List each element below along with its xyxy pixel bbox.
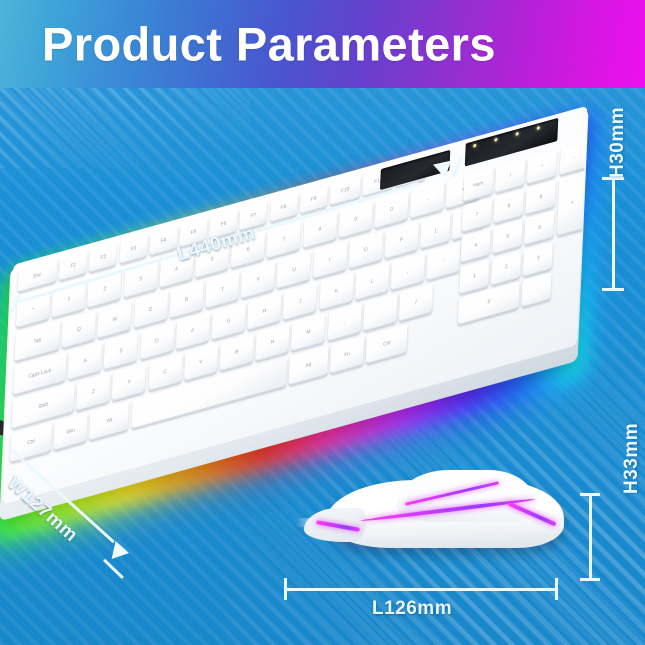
keyboard-key-y[interactable]: Y	[241, 261, 275, 299]
infographic-canvas: Product Parameters EscF1F2F3F4F5F6F7F8F9…	[0, 0, 645, 645]
dimension-label-mouse-length: L126mm	[372, 598, 452, 620]
keyboard-key-win[interactable]: Win	[54, 412, 88, 450]
dimension-line-mouse-height	[589, 494, 592, 580]
keyboard-numpad-key--[interactable]: -	[559, 140, 587, 175]
keyboard-key-h[interactable]: H	[247, 292, 281, 330]
keyboard-key-c[interactable]: C	[148, 353, 182, 391]
keyboard-numpad-key-num[interactable]: Num	[463, 167, 493, 202]
keyboard-key-t[interactable]: T	[205, 271, 239, 309]
dimension-tick-keyboard-height-bottom	[602, 288, 624, 291]
keyboard-key-i[interactable]: I	[313, 241, 347, 279]
keyboard-key--[interactable]: /	[399, 283, 433, 321]
keyboard-key-o[interactable]: O	[349, 231, 383, 269]
keyboard-key-r[interactable]: R	[169, 281, 203, 319]
keyboard-numpad-key-2[interactable]: 2	[491, 250, 521, 285]
dimension-tick-mouse-length-right	[555, 578, 558, 600]
keyboard-key-v[interactable]: V	[184, 343, 218, 381]
keyboard-key--[interactable]: .	[363, 293, 397, 331]
dimension-line-mouse-length	[285, 588, 557, 591]
keyboard-key-esc[interactable]: Esc	[18, 259, 58, 293]
keyboard-key-z[interactable]: Z	[76, 373, 110, 411]
mouse-product-image	[300, 462, 580, 572]
keyboard-key-e[interactable]: E	[134, 290, 168, 328]
keyboard-key-0[interactable]: 0	[374, 190, 408, 228]
keyboard-key-k[interactable]: K	[319, 272, 353, 310]
dimension-tick-mouse-length-left	[284, 578, 287, 600]
keyboard-key-w[interactable]: W	[98, 300, 132, 338]
keyboard-key--[interactable]: ;	[391, 252, 425, 290]
keyboard-key-a[interactable]: A	[68, 342, 102, 380]
keyboard-numpad-key-5[interactable]: 5	[493, 219, 523, 254]
keyboard-key-alt[interactable]: Alt	[288, 346, 328, 386]
keyboard-key-f2[interactable]: F2	[89, 242, 117, 273]
keyboard-key-d[interactable]: D	[140, 322, 174, 360]
keyboard-numpad-key--[interactable]: /	[495, 158, 525, 193]
keyboard-key-m[interactable]: M	[291, 313, 325, 351]
keyboard-key-fn[interactable]: Fn	[330, 336, 364, 374]
keyboard-key-f[interactable]: F	[176, 312, 210, 350]
keyboard-numpad-key-9[interactable]: 9	[526, 180, 556, 215]
keyboard-key-alt[interactable]: Alt	[90, 401, 130, 441]
dimension-label-keyboard-height: H30mm	[607, 107, 629, 178]
keyboard-key-f1[interactable]: F1	[59, 251, 87, 282]
header-banner: Product Parameters	[0, 0, 645, 88]
keyboard-key-n[interactable]: N	[256, 323, 290, 361]
keyboard-key-j[interactable]: J	[283, 282, 317, 320]
dimension-line-keyboard-height	[612, 178, 615, 290]
dimension-tick-mouse-height-bottom	[580, 578, 600, 581]
keyboard-numpad-key--[interactable]: *	[527, 149, 557, 184]
keyboard-key-b[interactable]: B	[220, 333, 254, 371]
keyboard-key-g[interactable]: G	[212, 302, 246, 340]
dimension-tick-mouse-height-top	[580, 493, 600, 496]
keyboard-numpad-key--[interactable]: .	[522, 272, 552, 307]
keyboard-key--[interactable]: [	[420, 212, 450, 249]
keyboard-key-p[interactable]: P	[385, 221, 419, 259]
keyboard-numpad-key-3[interactable]: 3	[523, 241, 553, 276]
keyboard-key-f3[interactable]: F3	[119, 234, 147, 265]
keyboard-key-u[interactable]: U	[277, 251, 311, 289]
keyboard-assembly: EscF1F2F3F4F5F6F7F8F9F10F11F12~123456789…	[0, 155, 640, 505]
keyboard-key-ctrl[interactable]: Ctrl	[366, 324, 408, 365]
keyboard-key--[interactable]: -	[410, 181, 444, 219]
page-title: Product Parameters	[42, 21, 496, 68]
keyboard-numpad-key-6[interactable]: 6	[525, 211, 555, 246]
keyboard-key-x[interactable]: X	[112, 363, 146, 401]
keyboard-key--[interactable]: ,	[327, 303, 361, 341]
keyboard-key--[interactable]: '	[427, 242, 461, 280]
keyboard-key-q[interactable]: Q	[62, 310, 96, 348]
dimension-label-mouse-height: H33mm	[621, 423, 643, 494]
keyboard-key-s[interactable]: S	[104, 332, 138, 370]
keyboard-numpad-key-1[interactable]: 1	[459, 259, 489, 294]
keyboard-numpad-key-8[interactable]: 8	[494, 189, 524, 224]
keyboard-key-l[interactable]: L	[355, 262, 389, 300]
keyboard-key-f4[interactable]: F4	[149, 226, 177, 257]
keyboard-key-ctrl[interactable]: Ctrl	[10, 422, 52, 463]
